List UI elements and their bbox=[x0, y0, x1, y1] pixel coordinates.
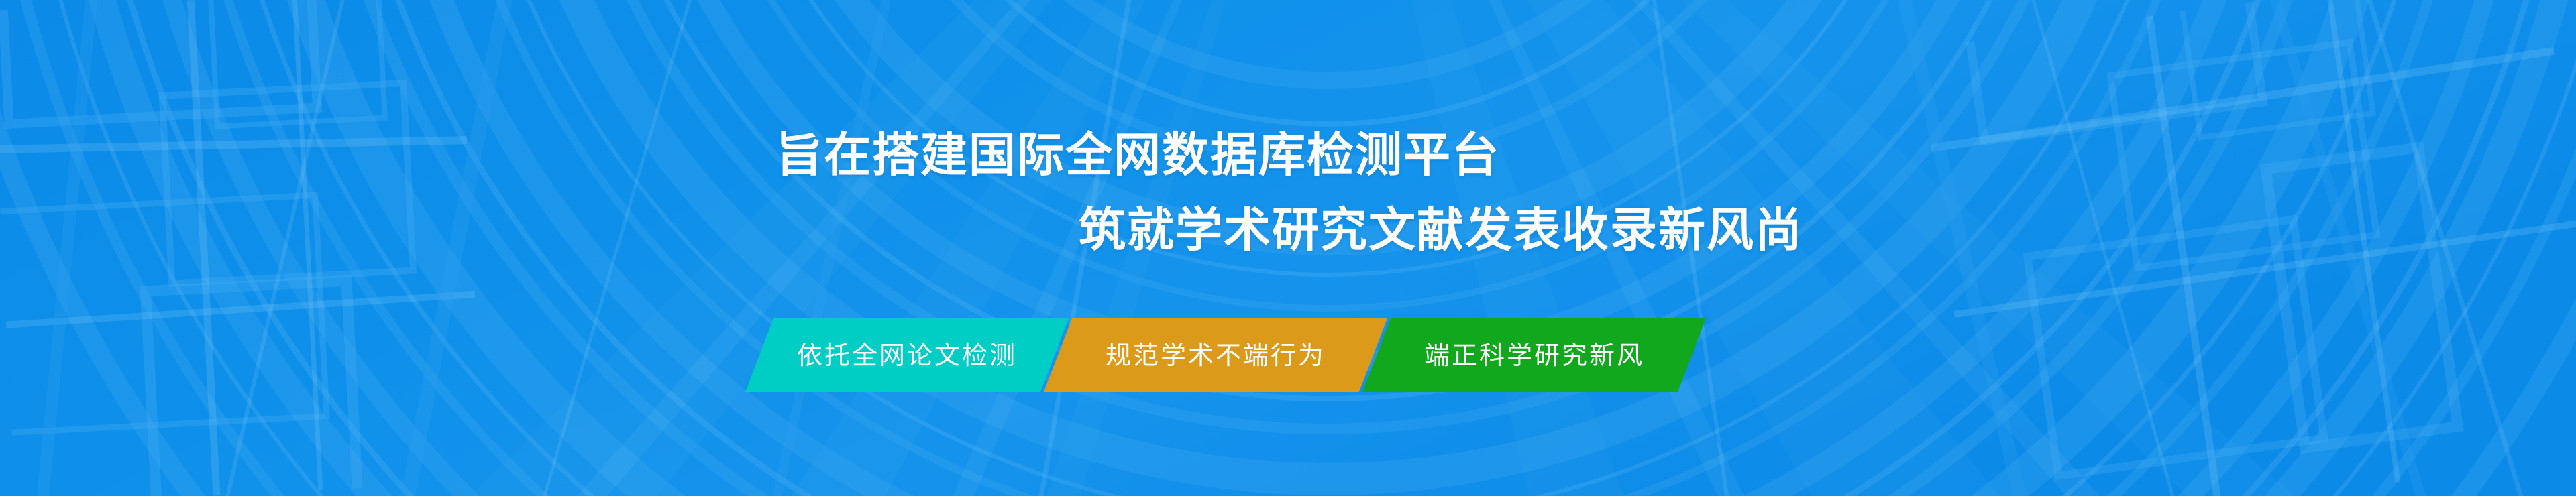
feature-tag-3[interactable]: 端正科学研究新风 bbox=[1362, 318, 1706, 392]
banner-content: 旨在搭建国际全网数据库检测平台 筑就学术研究文献发表收录新风尚 依托全网论文检测… bbox=[0, 0, 2576, 496]
feature-tag-1-label: 依托全网论文检测 bbox=[797, 343, 1017, 368]
feature-tag-row: 依托全网论文检测 规范学术不端行为 端正科学研究新风 bbox=[759, 318, 1692, 392]
headline-line-1: 旨在搭建国际全网数据库检测平台 bbox=[775, 131, 1500, 178]
feature-tag-1[interactable]: 依托全网论文检测 bbox=[745, 318, 1069, 392]
feature-tag-2[interactable]: 规范学术不端行为 bbox=[1044, 318, 1387, 392]
promotional-banner: 旨在搭建国际全网数据库检测平台 筑就学术研究文献发表收录新风尚 依托全网论文检测… bbox=[0, 0, 2576, 496]
headline-line-2: 筑就学术研究文献发表收录新风尚 bbox=[1079, 206, 1803, 253]
feature-tag-3-label: 端正科学研究新风 bbox=[1424, 343, 1644, 368]
feature-tag-2-label: 规范学术不端行为 bbox=[1106, 343, 1326, 368]
